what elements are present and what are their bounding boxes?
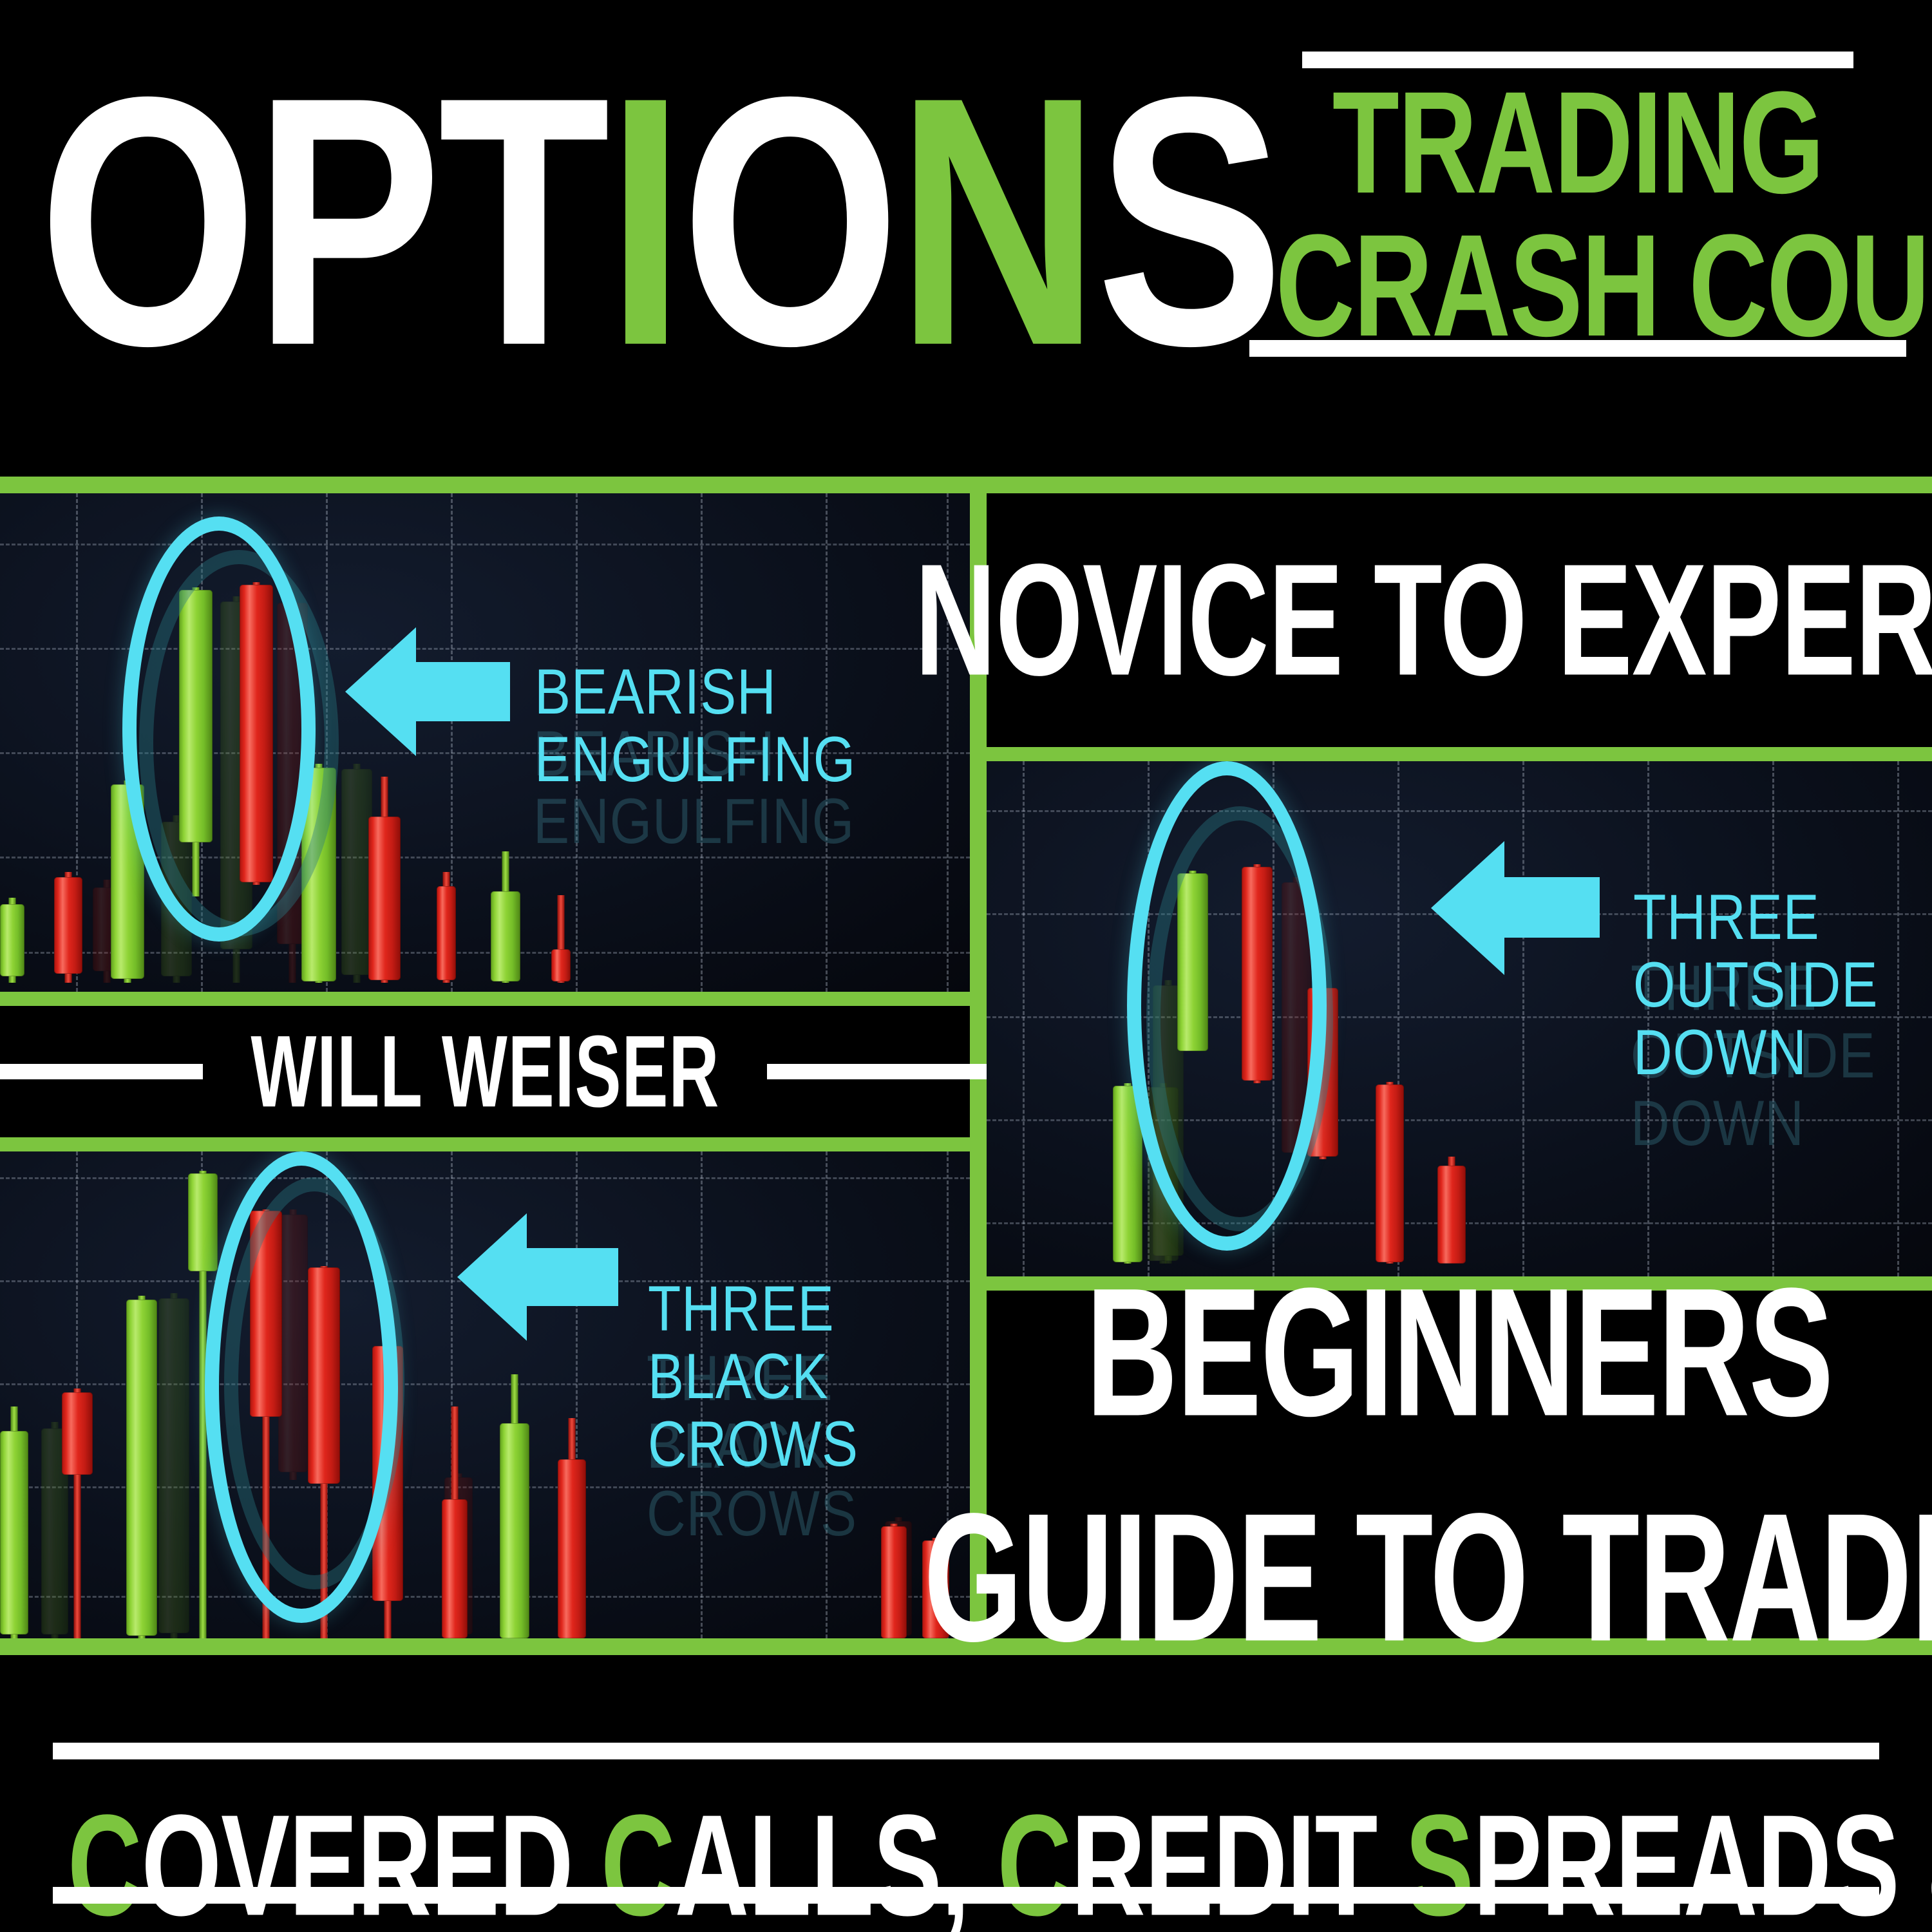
- page-title: OPTIONS: [39, 57, 1280, 386]
- highlight-ellipse: [122, 516, 316, 942]
- beginners-guide-block: BEGINNERS GUIDE TO TRADE: [987, 1291, 1932, 1638]
- chart-bearish-engulfing: BEARISH ENGULFING BEARISH ENGULFING: [0, 493, 970, 992]
- divider-above-author: [0, 992, 972, 1006]
- tagline-cap-3: C: [998, 1785, 1072, 1932]
- candle-down: [368, 777, 401, 983]
- novice-to-expert-block: NOVICE TO EXPERT: [987, 493, 1932, 747]
- header-block: OPTIONS TRADING CRASH COURSE: [0, 0, 1932, 477]
- title-segment-1: OPT: [39, 57, 607, 386]
- candle-down: [881, 1524, 907, 1638]
- beginners-line-1: BEGINNERS: [1086, 1249, 1832, 1454]
- candle-ghost: [341, 764, 372, 983]
- highlight-ellipse: [205, 1151, 398, 1623]
- annotation-three-outside-down: THREE OUTSIDE DOWN: [1633, 884, 1878, 1086]
- tagline-rest-2: ALLS,: [675, 1785, 998, 1932]
- tagline-cap-1: C: [68, 1785, 142, 1932]
- candle-down: [437, 872, 456, 983]
- tagline-rest-1: OVERED: [142, 1785, 601, 1932]
- candle-down: [558, 1418, 586, 1638]
- annotation-bearish-engulfing: BEARISH ENGULFING: [535, 658, 856, 793]
- tagline-cap-4: S: [1405, 1785, 1473, 1932]
- title-segment-2: I: [607, 57, 681, 386]
- tagline-cap-2: C: [601, 1785, 675, 1932]
- footer-rule-top: [53, 1743, 1879, 1759]
- footer-tagline: COVERED CALLS, CREDIT SPREADS & IRON CON…: [68, 1783, 1864, 1932]
- beginners-guide-text: BEGINNERS GUIDE TO TRADE: [924, 1260, 1932, 1669]
- candle-down: [442, 1406, 468, 1638]
- highlight-ellipse: [1127, 761, 1327, 1251]
- subtitle-trading: TRADING: [1276, 75, 1880, 213]
- tagline-rest-4: PREADS &: [1473, 1785, 1932, 1932]
- candle-up: [126, 1296, 157, 1638]
- beginners-line-2: GUIDE TO TRADE: [924, 1486, 1932, 1669]
- divider-below-author: [0, 1137, 972, 1151]
- candle-down: [1376, 1082, 1404, 1264]
- author-rule-left: [0, 1064, 203, 1079]
- candle-down: [551, 895, 571, 983]
- author-band: WILL WEISER: [0, 1006, 970, 1137]
- candle-ghost: [158, 1293, 189, 1638]
- title-segment-4: N: [896, 57, 1096, 386]
- pointer-arrow-icon: [457, 1209, 618, 1345]
- author-name: WILL WEISER: [231, 1013, 739, 1130]
- pointer-arrow-icon: [345, 622, 510, 761]
- divider-horizontal-top: [0, 477, 1932, 493]
- candle-up: [491, 851, 520, 983]
- annotation-three-black-crows: THREE BLACK CROWS: [648, 1275, 858, 1478]
- footer-block: COVERED CALLS, CREDIT SPREADS & IRON CON…: [0, 1674, 1932, 1932]
- novice-to-expert-text: NOVICE TO EXPERT: [914, 529, 1932, 711]
- divider-right-upper: [987, 747, 1932, 761]
- title-segment-3: O: [681, 57, 896, 386]
- subtitle-group: TRADING CRASH COURSE: [1249, 52, 1906, 357]
- candle-up: [0, 898, 24, 983]
- subtitle-crash-course: CRASH COURSE: [1276, 218, 1880, 355]
- candle-up: [500, 1374, 529, 1638]
- candle-down: [1437, 1157, 1466, 1264]
- tagline-rest-3: REDIT: [1071, 1785, 1405, 1932]
- chart-three-outside-down: THREE OUTSIDE DOWN THREE OUTSIDE DOWN: [987, 761, 1932, 1276]
- candle-down: [62, 1388, 93, 1638]
- chart-three-black-crows: THREE BLACK CROWS THREE BLACK CROWS: [0, 1151, 970, 1638]
- book-cover: OPTIONS TRADING CRASH COURSE: [0, 0, 1932, 1932]
- candle-down: [54, 872, 82, 983]
- pointer-arrow-icon: [1431, 837, 1600, 979]
- footer-rule-bottom: [53, 1887, 1879, 1904]
- candle-up: [0, 1406, 28, 1638]
